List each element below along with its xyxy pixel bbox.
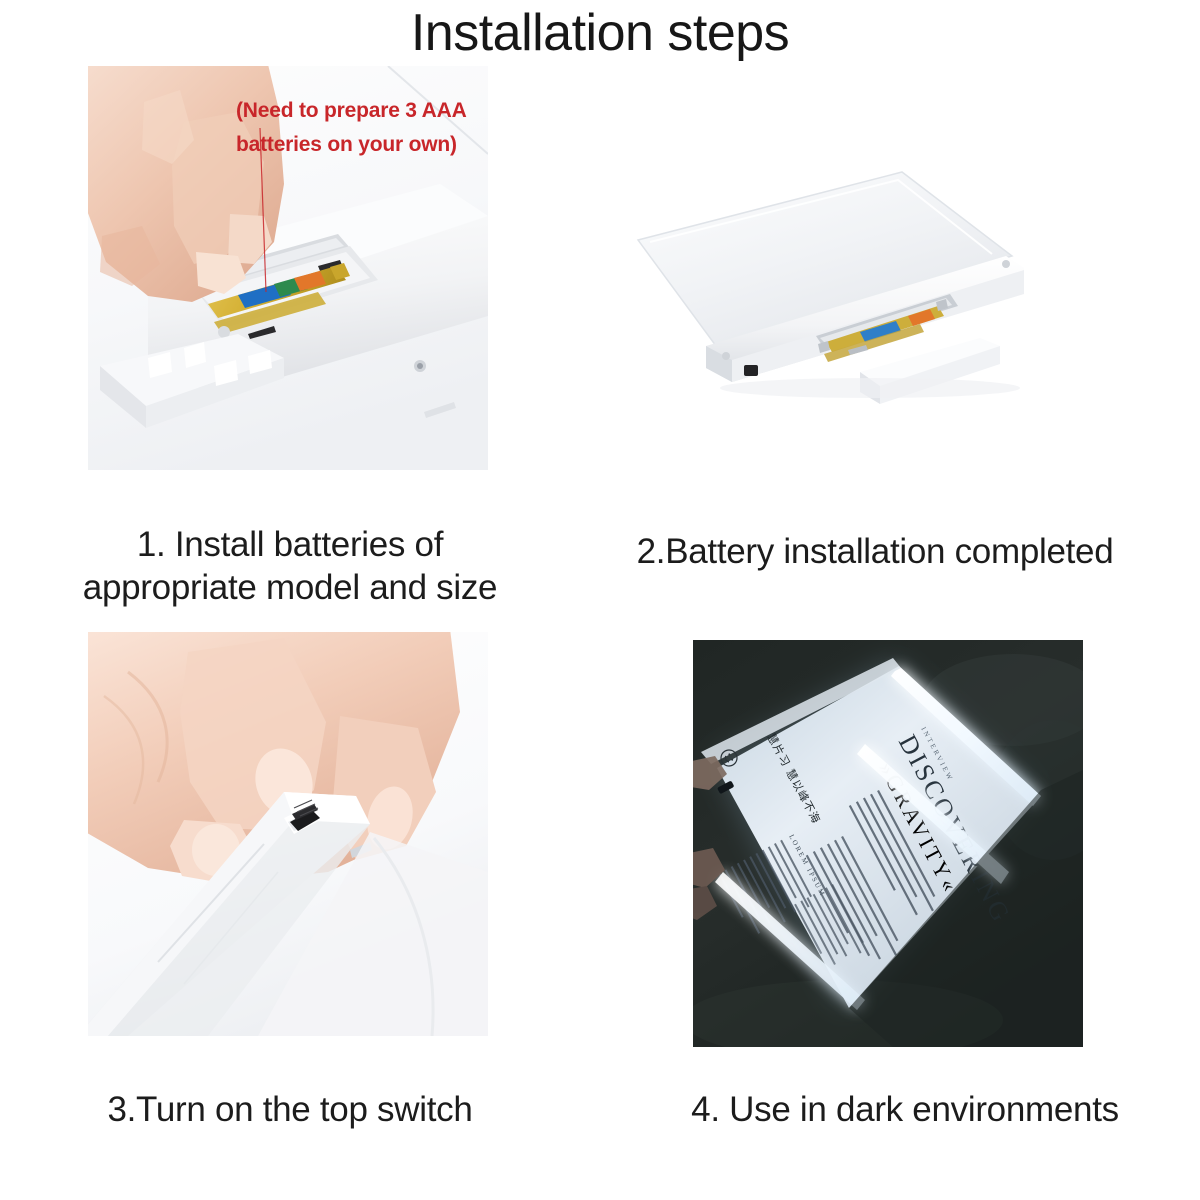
annotation-line-2: batteries on your own) bbox=[236, 128, 486, 162]
infographic-page: Installation steps bbox=[0, 0, 1200, 1200]
caption-step-2-line-1: 2.Battery installation completed bbox=[610, 530, 1140, 573]
page-title: Installation steps bbox=[0, 2, 1200, 64]
caption-step-4-line-1: 4. Use in dark environments bbox=[660, 1088, 1150, 1131]
caption-step-2: 2.Battery installation completed bbox=[610, 530, 1140, 573]
caption-step-1-line-1: 1. Install batteries of bbox=[40, 523, 540, 566]
caption-step-3-line-1: 3.Turn on the top switch bbox=[50, 1088, 530, 1131]
photo-dark-use: INTERVIEW DISCOVERING »GRAVITY« bbox=[693, 640, 1083, 1047]
photo-batteries-installed bbox=[620, 160, 1050, 430]
caption-step-1-line-2: appropriate model and size bbox=[40, 566, 540, 609]
annotation-aaa-note: (Need to prepare 3 AAA batteries on your… bbox=[236, 94, 486, 162]
photo-install-batteries: (Need to prepare 3 AAA batteries on your… bbox=[88, 66, 488, 470]
annotation-line-1: (Need to prepare 3 AAA bbox=[236, 94, 486, 128]
photo-turn-on-switch bbox=[88, 632, 488, 1036]
caption-step-1: 1. Install batteries of appropriate mode… bbox=[40, 523, 540, 609]
caption-step-4: 4. Use in dark environments bbox=[660, 1088, 1150, 1131]
caption-step-3: 3.Turn on the top switch bbox=[50, 1088, 530, 1131]
